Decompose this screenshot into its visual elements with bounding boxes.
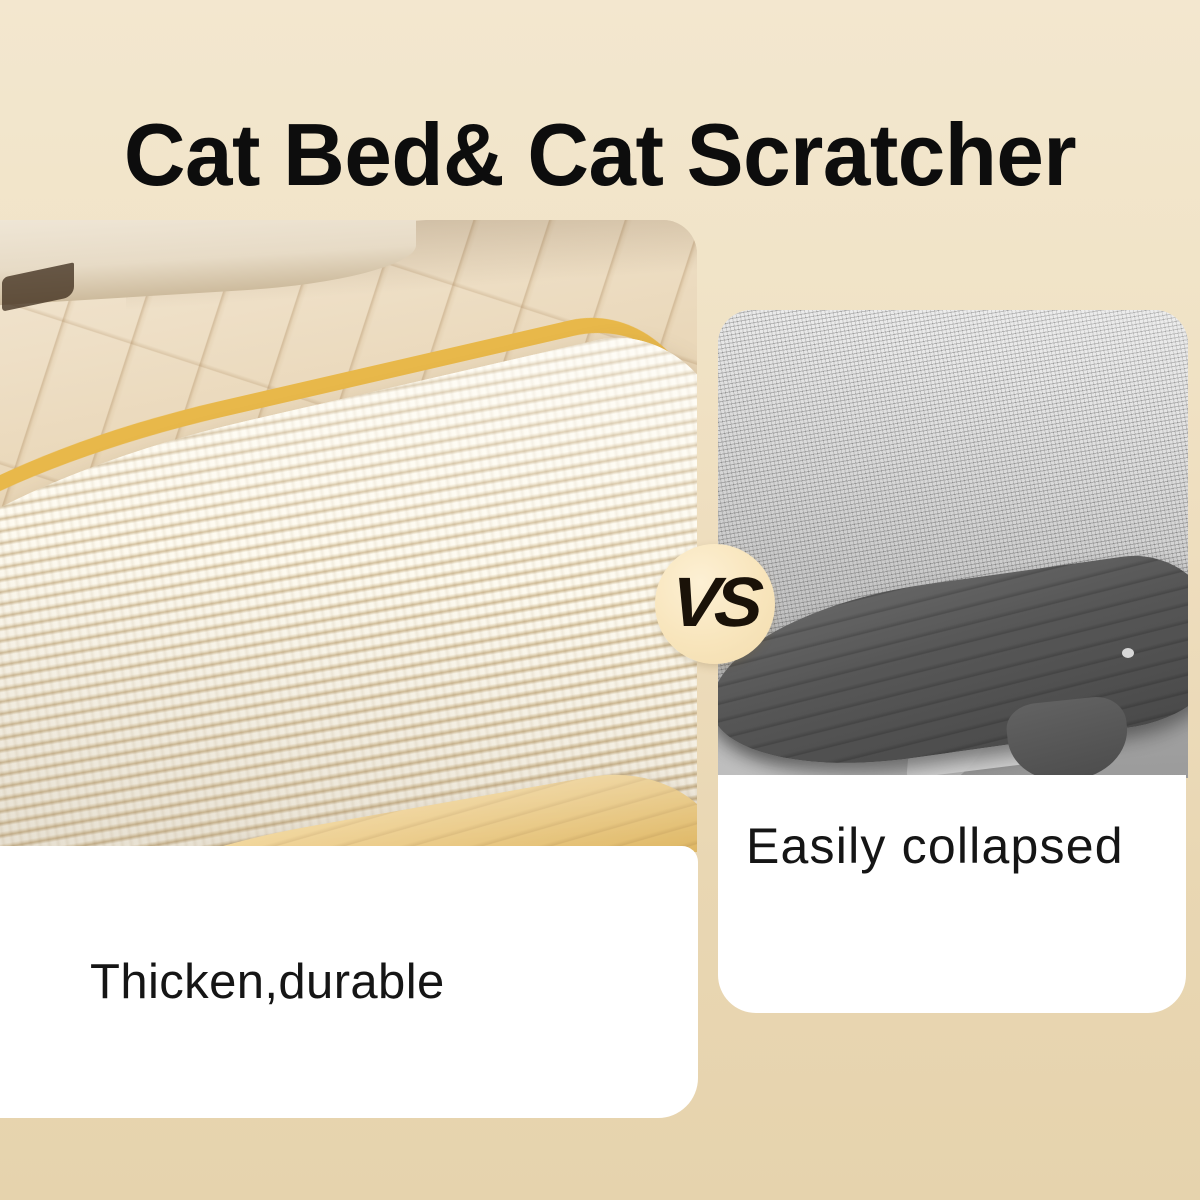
vs-badge-label: VS bbox=[669, 567, 761, 637]
page-title: Cat Bed& Cat Scratcher bbox=[18, 111, 1182, 199]
left-caption-card: Thicken,durable bbox=[0, 846, 698, 1118]
collapsed-cat-scratcher-photo bbox=[718, 310, 1188, 778]
vs-badge-icon: VS bbox=[655, 544, 775, 664]
screw-hole-icon bbox=[1122, 648, 1134, 658]
product-comparison-banner: Cat Bed& Cat Scratcher bbox=[0, 0, 1200, 1200]
wooden-cat-scratcher-photo bbox=[0, 220, 697, 852]
right-caption-text: Easily collapsed bbox=[746, 821, 1124, 871]
right-caption-card: Easily collapsed bbox=[718, 775, 1186, 1013]
left-caption-text: Thicken,durable bbox=[90, 958, 445, 1007]
